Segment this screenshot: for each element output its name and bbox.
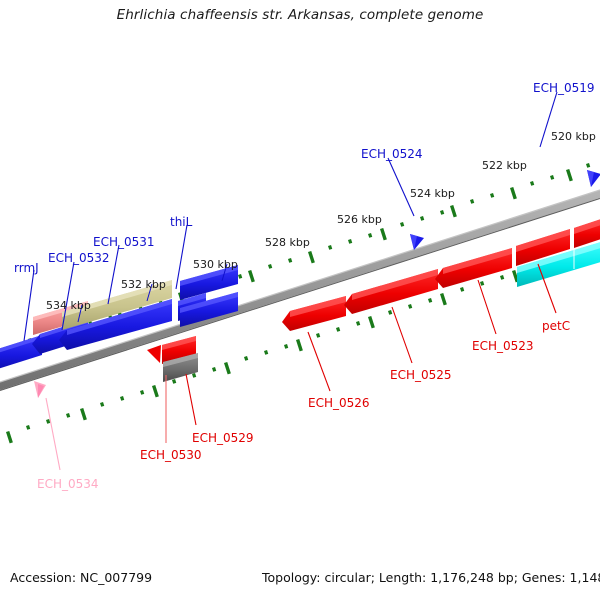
gene-label-thil[interactable]: thiL [170,216,192,228]
scale-tick-526: 526 kbp [337,214,382,225]
leader-ech-0525 [392,307,412,363]
gene-label-ech-0534[interactable]: ECH_0534 [37,478,99,490]
scale-tick-524: 524 kbp [410,188,455,199]
scale-tick-532: 532 kbp [121,279,166,290]
leader-ech-0523 [478,280,496,334]
topology-text: Topology: circular; Length: 1,176,248 bp… [262,570,600,585]
scale-tick-530: 530 kbp [193,259,238,270]
gene-label-ech-0531[interactable]: ECH_0531 [93,236,155,248]
gene-label-ech-0524[interactable]: ECH_0524 [361,148,423,160]
genome-viewer: Ehrlichia chaffeensis str. Arkansas, com… [0,0,600,600]
scale-tick-520: 520 kbp [551,131,596,142]
gene-label-ech-0525[interactable]: ECH_0525 [390,369,452,381]
leader-thil [176,225,187,289]
accession-text: Accession: NC_007799 [10,570,152,585]
gene-label-ech-0530[interactable]: ECH_0530 [140,449,202,461]
scale-tick-522: 522 kbp [482,160,527,171]
gene-label-rrmj[interactable]: rrmJ [14,262,39,274]
gene-feature-ech-0526[interactable] [282,296,346,331]
leader-rrmj [24,270,34,341]
label-leader-lines [24,92,557,470]
gene-label-ech-0532[interactable]: ECH_0532 [48,252,110,264]
gene-feature-ech-0523[interactable] [435,248,512,288]
gene-feature-ech-0519[interactable] [587,170,600,187]
leader-ech-0526 [308,332,330,391]
genome-backbone[interactable] [0,190,600,391]
gene-feature-ech-0534[interactable] [34,381,46,398]
leader-ech-0531 [108,245,119,304]
gene-label-ech-0526[interactable]: ECH_0526 [308,397,370,409]
leader-ech-0529 [186,374,196,425]
leader-ech-0534 [46,398,60,470]
scale-tick-528: 528 kbp [265,237,310,248]
gene-label-ech-0519[interactable]: ECH_0519 [533,82,595,94]
status-bar: Accession: NC_007799 Topology: circular;… [0,560,600,600]
gene-label-ech-0529[interactable]: ECH_0529 [192,432,254,444]
gene-label-ech-0523[interactable]: ECH_0523 [472,340,534,352]
gene-label-petc[interactable]: petC [542,320,570,332]
scale-tick-534: 534 kbp [46,300,91,311]
